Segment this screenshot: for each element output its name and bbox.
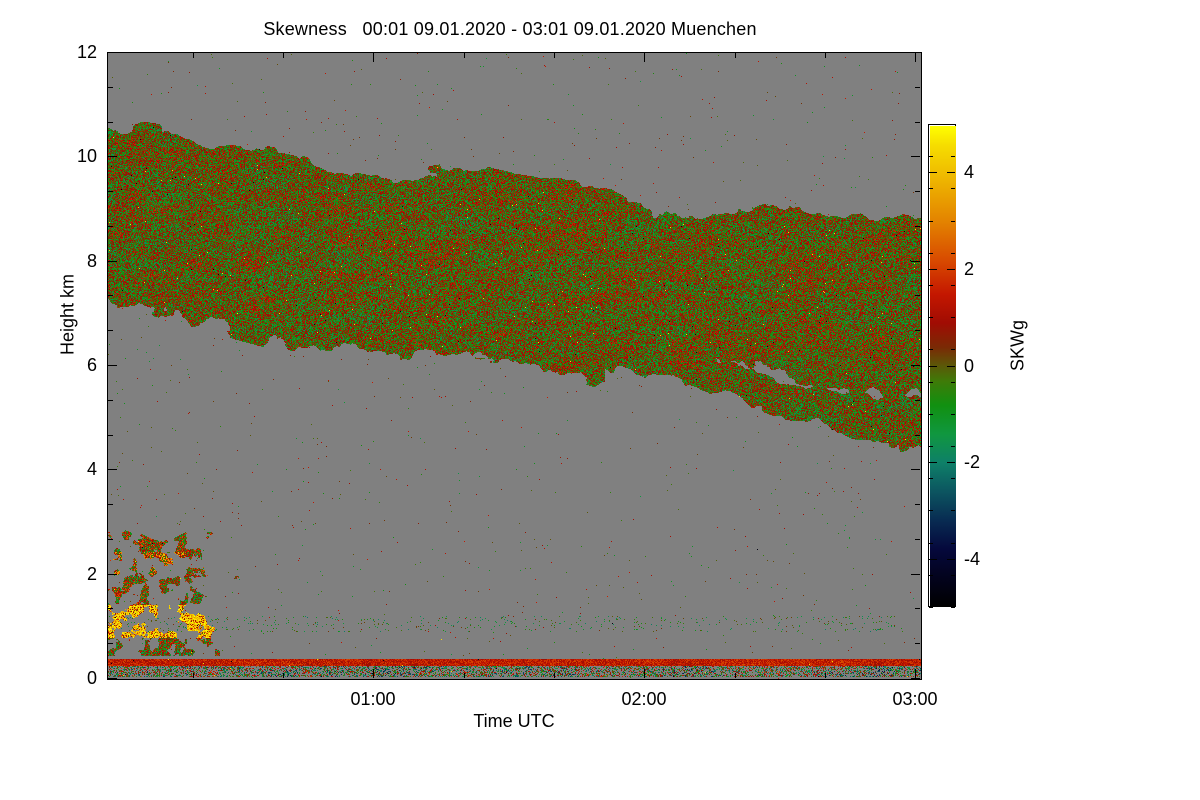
colorbar-minor-tick: [929, 478, 933, 479]
x-axis-tick: [373, 53, 374, 62]
y-axis-minor-tick: [915, 122, 920, 123]
x-axis-minor-tick: [825, 673, 826, 678]
y-axis-tick: [911, 469, 920, 470]
y-axis-minor-tick: [915, 608, 920, 609]
colorbar-tick: [947, 366, 955, 367]
x-axis-minor-tick: [735, 673, 736, 678]
colorbar-tick-label: 0: [964, 357, 1010, 375]
colorbar-minor-tick: [929, 221, 933, 222]
x-axis-tick: [915, 53, 916, 62]
y-axis-minor-tick: [108, 87, 113, 88]
y-axis-minor-tick: [108, 643, 113, 644]
colorbar-tick-label: -2: [964, 453, 1010, 471]
colorbar-minor-tick: [929, 285, 933, 286]
x-axis-minor-tick: [735, 53, 736, 58]
x-axis-tick: [644, 669, 645, 678]
x-axis-minor-tick: [464, 53, 465, 58]
x-axis-minor-tick: [193, 673, 194, 678]
colorbar-minor-tick: [951, 124, 955, 125]
x-axis-minor-tick: [283, 53, 284, 58]
y-axis-tick: [911, 574, 920, 575]
colorbar-minor-tick: [951, 317, 955, 318]
y-axis-minor-tick: [915, 400, 920, 401]
colorbar-tick-label: 2: [964, 260, 1010, 278]
y-axis-tick-label: 4: [51, 460, 97, 478]
colorbar-minor-tick: [951, 510, 955, 511]
colorbar-tick: [947, 462, 955, 463]
colorbar-minor-tick: [951, 285, 955, 286]
x-axis-minor-tick: [825, 53, 826, 58]
x-axis-minor-tick: [554, 53, 555, 58]
y-axis-minor-tick: [108, 191, 113, 192]
colorbar-label: SKWg: [1008, 281, 1029, 411]
y-axis-tick: [108, 574, 117, 575]
colorbar-minor-tick: [951, 446, 955, 447]
colorbar-minor-tick: [929, 188, 933, 189]
colorbar-minor-tick: [951, 543, 955, 544]
x-axis-minor-tick: [554, 673, 555, 678]
x-axis-tick: [644, 53, 645, 62]
x-axis-minor-tick: [283, 673, 284, 678]
colorbar-minor-tick: [951, 607, 955, 608]
y-axis-minor-tick: [108, 295, 113, 296]
x-axis-tick: [373, 669, 374, 678]
colorbar-minor-tick: [929, 575, 933, 576]
page-title: Skewness 00:01 09.01.2020 - 03:01 09.01.…: [0, 19, 1020, 40]
y-axis-tick: [108, 156, 117, 157]
colorbar-minor-tick: [951, 382, 955, 383]
colorbar-minor-tick: [929, 317, 933, 318]
y-axis-tick: [911, 678, 920, 679]
colorbar-minor-tick: [951, 156, 955, 157]
colorbar-minor-tick: [951, 221, 955, 222]
x-axis-tick: [915, 669, 916, 678]
y-axis-tick-label: 10: [51, 147, 97, 165]
y-axis-tick-label: 2: [51, 565, 97, 583]
colorbar-tick: [929, 269, 937, 270]
x-axis-minor-tick: [464, 673, 465, 678]
y-axis-minor-tick: [915, 87, 920, 88]
y-axis-tick-label: 12: [51, 43, 97, 61]
y-axis-minor-tick: [915, 435, 920, 436]
figure-canvas: Skewness 00:01 09.01.2020 - 03:01 09.01.…: [0, 0, 1200, 800]
y-axis-tick: [108, 261, 117, 262]
skewness-heatmap-canvas: [108, 53, 921, 679]
y-axis-minor-tick: [108, 330, 113, 331]
y-axis-tick-label: 0: [51, 669, 97, 687]
x-axis-minor-tick: [193, 53, 194, 58]
y-axis-minor-tick: [915, 539, 920, 540]
y-axis-minor-tick: [915, 504, 920, 505]
y-axis-tick: [108, 678, 117, 679]
x-axis-tick-label: 01:00: [328, 690, 418, 708]
y-axis-tick: [911, 261, 920, 262]
colorbar-minor-tick: [951, 478, 955, 479]
colorbar-tick-label: -4: [964, 550, 1010, 568]
colorbar-minor-tick: [929, 510, 933, 511]
colorbar-minor-tick: [929, 446, 933, 447]
colorbar-tick: [929, 462, 937, 463]
heatmap-plot-area[interactable]: [107, 52, 922, 680]
colorbar-minor-tick: [929, 124, 933, 125]
colorbar-minor-tick: [951, 253, 955, 254]
y-axis-minor-tick: [108, 608, 113, 609]
y-axis-tick-label: 6: [51, 356, 97, 374]
colorbar-minor-tick: [929, 543, 933, 544]
y-axis-minor-tick: [108, 435, 113, 436]
colorbar-minor-tick: [929, 414, 933, 415]
x-axis-tick-label: 02:00: [599, 690, 689, 708]
y-axis-minor-tick: [108, 539, 113, 540]
colorbar-minor-tick: [951, 414, 955, 415]
y-axis-tick-label: 8: [51, 252, 97, 270]
colorbar-tick: [929, 559, 937, 560]
y-axis-minor-tick: [915, 643, 920, 644]
colorbar-tick: [929, 172, 937, 173]
colorbar-tick: [947, 559, 955, 560]
y-axis-tick: [108, 365, 117, 366]
colorbar-minor-tick: [929, 253, 933, 254]
colorbar-minor-tick: [929, 349, 933, 350]
y-axis-minor-tick: [915, 226, 920, 227]
y-axis-minor-tick: [108, 122, 113, 123]
y-axis-minor-tick: [108, 400, 113, 401]
colorbar-tick: [947, 269, 955, 270]
y-axis-minor-tick: [915, 330, 920, 331]
x-axis-label: Time UTC: [107, 711, 921, 732]
colorbar-minor-tick: [929, 607, 933, 608]
y-axis-tick: [911, 156, 920, 157]
x-axis-tick-label: 03:00: [870, 690, 960, 708]
colorbar-minor-tick: [929, 156, 933, 157]
colorbar-minor-tick: [951, 188, 955, 189]
y-axis-tick: [911, 365, 920, 366]
y-axis-minor-tick: [915, 191, 920, 192]
y-axis-minor-tick: [915, 295, 920, 296]
colorbar-tick: [947, 172, 955, 173]
y-axis-tick: [108, 52, 117, 53]
colorbar-tick-label: 4: [964, 163, 1010, 181]
colorbar-minor-tick: [951, 575, 955, 576]
y-axis-minor-tick: [108, 226, 113, 227]
colorbar-tick: [929, 366, 937, 367]
colorbar-minor-tick: [929, 382, 933, 383]
y-axis-minor-tick: [108, 504, 113, 505]
colorbar-minor-tick: [951, 349, 955, 350]
y-axis-tick: [108, 469, 117, 470]
